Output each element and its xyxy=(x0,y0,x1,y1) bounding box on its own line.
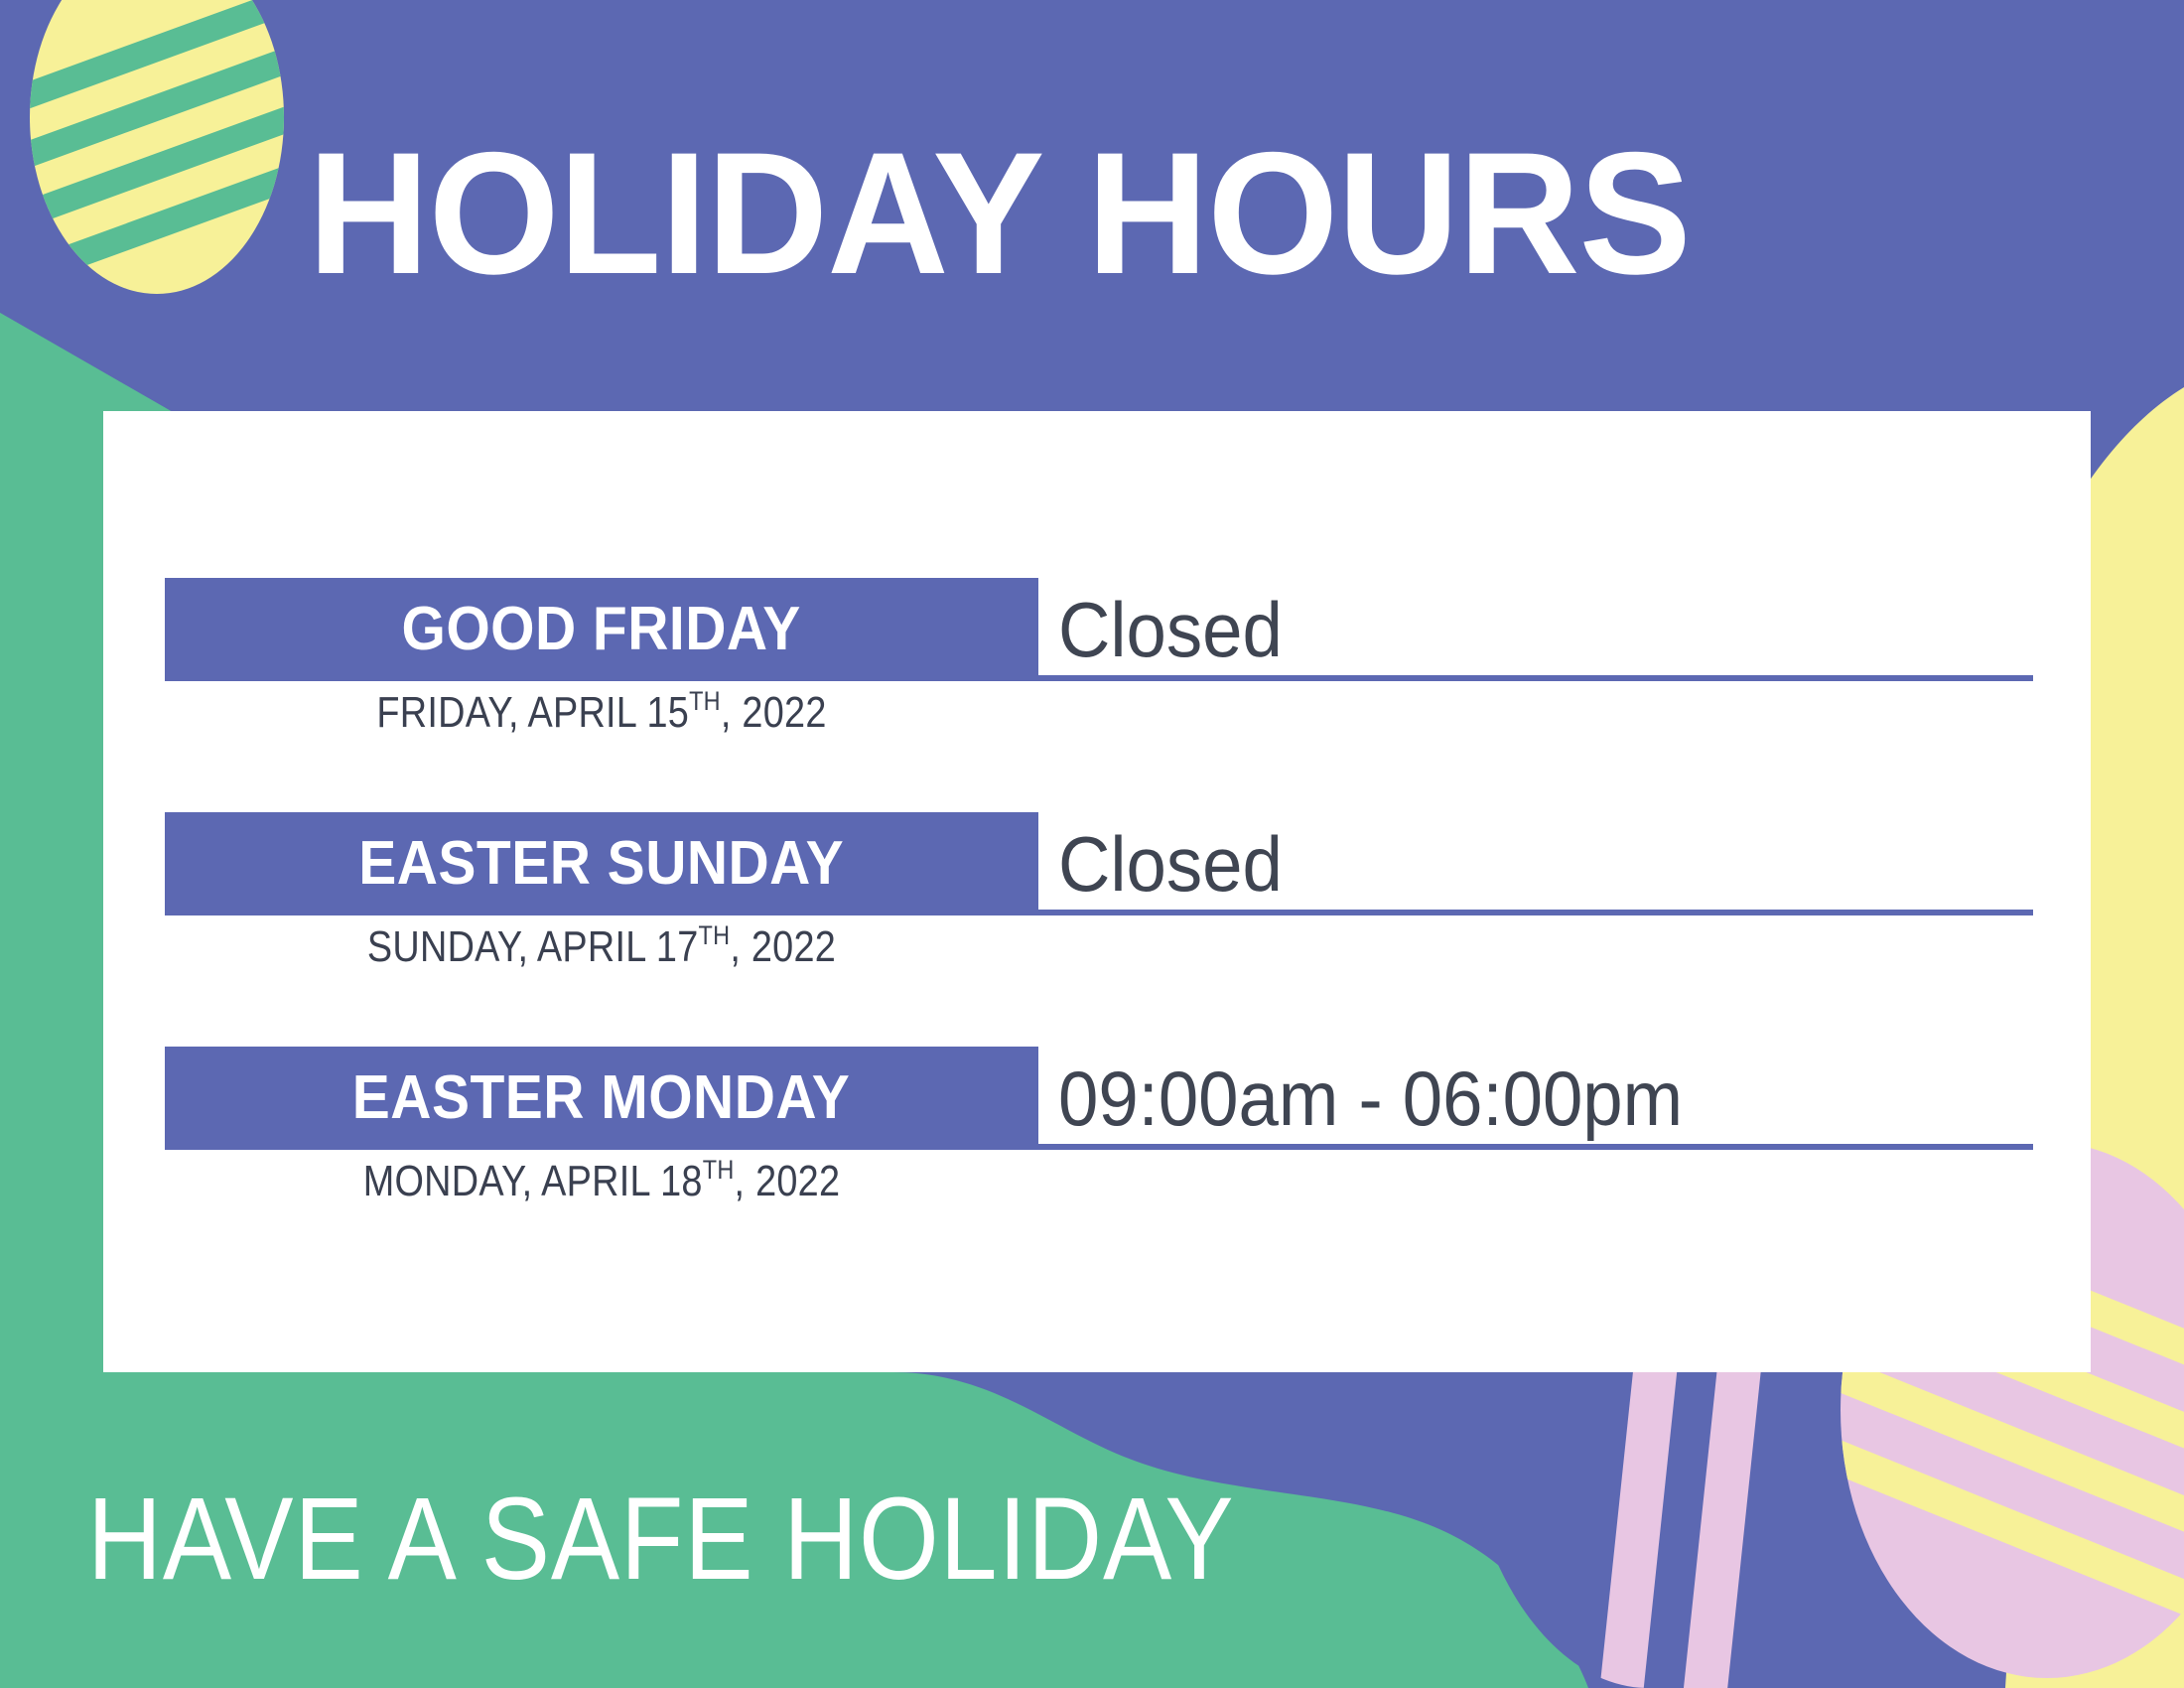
holiday-name: EASTER MONDAY xyxy=(352,1067,850,1129)
holiday-label-bar: EASTER MONDAY xyxy=(165,1047,1038,1150)
holiday-date-ordinal: TH xyxy=(703,1154,735,1185)
poster-canvas: HOLIDAY HOURS GOOD FRIDAY FRIDAY, APRIL … xyxy=(0,0,2184,1688)
holiday-date-suffix: , 2022 xyxy=(735,1157,841,1205)
hours-card: GOOD FRIDAY FRIDAY, APRIL 15TH, 2022 Clo… xyxy=(103,411,2091,1372)
holiday-date-ordinal: TH xyxy=(689,685,721,716)
holiday-date: FRIDAY, APRIL 15TH, 2022 xyxy=(226,687,978,739)
holiday-name: EASTER SUNDAY xyxy=(359,833,845,895)
hours-value-zone: Closed xyxy=(1038,570,2033,681)
hours-underline xyxy=(1038,1144,2033,1150)
hours-value-zone: 09:00am - 06:00pm xyxy=(1038,1039,2033,1150)
hours-value: Closed xyxy=(1058,588,1283,671)
holiday-name: GOOD FRIDAY xyxy=(402,599,801,660)
holiday-date-suffix: , 2022 xyxy=(730,922,836,971)
hours-underline xyxy=(1038,910,2033,915)
holiday-label-bar: GOOD FRIDAY xyxy=(165,578,1038,681)
hours-value-zone: Closed xyxy=(1038,804,2033,915)
holiday-date-ordinal: TH xyxy=(699,919,731,950)
page-title: HOLIDAY HOURS xyxy=(308,117,1926,311)
hours-value: 09:00am - 06:00pm xyxy=(1058,1056,1683,1140)
holiday-date-suffix: , 2022 xyxy=(721,688,827,737)
holiday-date-prefix: SUNDAY, APRIL 17 xyxy=(367,922,699,971)
footer-message: HAVE A SAFE HOLIDAY xyxy=(87,1475,1235,1604)
hours-underline xyxy=(1038,675,2033,681)
holiday-date: MONDAY, APRIL 18TH, 2022 xyxy=(226,1156,978,1207)
holiday-label-bar: EASTER SUNDAY xyxy=(165,812,1038,915)
holiday-date-prefix: FRIDAY, APRIL 15 xyxy=(376,688,689,737)
holiday-date: SUNDAY, APRIL 17TH, 2022 xyxy=(226,921,978,973)
holiday-date-prefix: MONDAY, APRIL 18 xyxy=(363,1157,703,1205)
hours-value: Closed xyxy=(1058,822,1283,906)
